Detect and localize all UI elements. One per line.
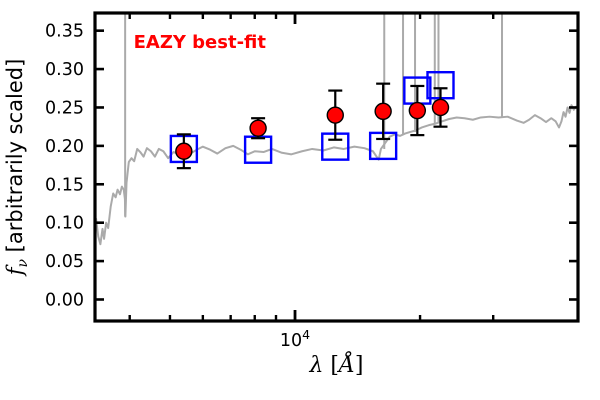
observed-point-4: [409, 103, 425, 119]
y-tick-label-4: 0.20: [45, 137, 84, 157]
axes-background: [95, 13, 578, 321]
y-axis-tick-labels: 0.000.050.100.150.200.250.300.35: [45, 22, 84, 311]
observed-point-5: [433, 99, 449, 115]
plot-background: [95, 13, 578, 321]
y-tick-label-5: 0.25: [45, 98, 84, 118]
observed-point-1: [250, 120, 266, 136]
y-tick-label-3: 0.15: [45, 175, 84, 195]
y-tick-label-6: 0.30: [45, 60, 84, 80]
y-tick-label-2: 0.10: [45, 214, 84, 234]
figure-canvas: 0.000.050.100.150.200.250.300.35 104 EAZ…: [0, 0, 600, 400]
x-tick-label-0: 104: [280, 327, 310, 351]
eazy-best-fit-annotation: EAZY best-fit: [134, 32, 267, 53]
observed-point-2: [327, 107, 343, 123]
x-axis-title: λ [Å]: [308, 350, 363, 378]
y-axis-title: fν [arbitrarily scaled]: [3, 59, 31, 278]
y-tick-label-0: 0.00: [45, 290, 84, 310]
y-tick-label-1: 0.05: [45, 252, 84, 272]
x-axis-tick-labels: 104: [280, 327, 310, 351]
x-axis-title-text: λ [Å]: [308, 350, 363, 378]
y-axis-title-text: fν [arbitrarily scaled]: [3, 59, 31, 278]
observed-point-0: [176, 143, 192, 159]
observed-point-3: [375, 103, 391, 119]
y-tick-label-7: 0.35: [45, 22, 84, 42]
sed-plot: 0.000.050.100.150.200.250.300.35 104 EAZ…: [0, 0, 600, 400]
